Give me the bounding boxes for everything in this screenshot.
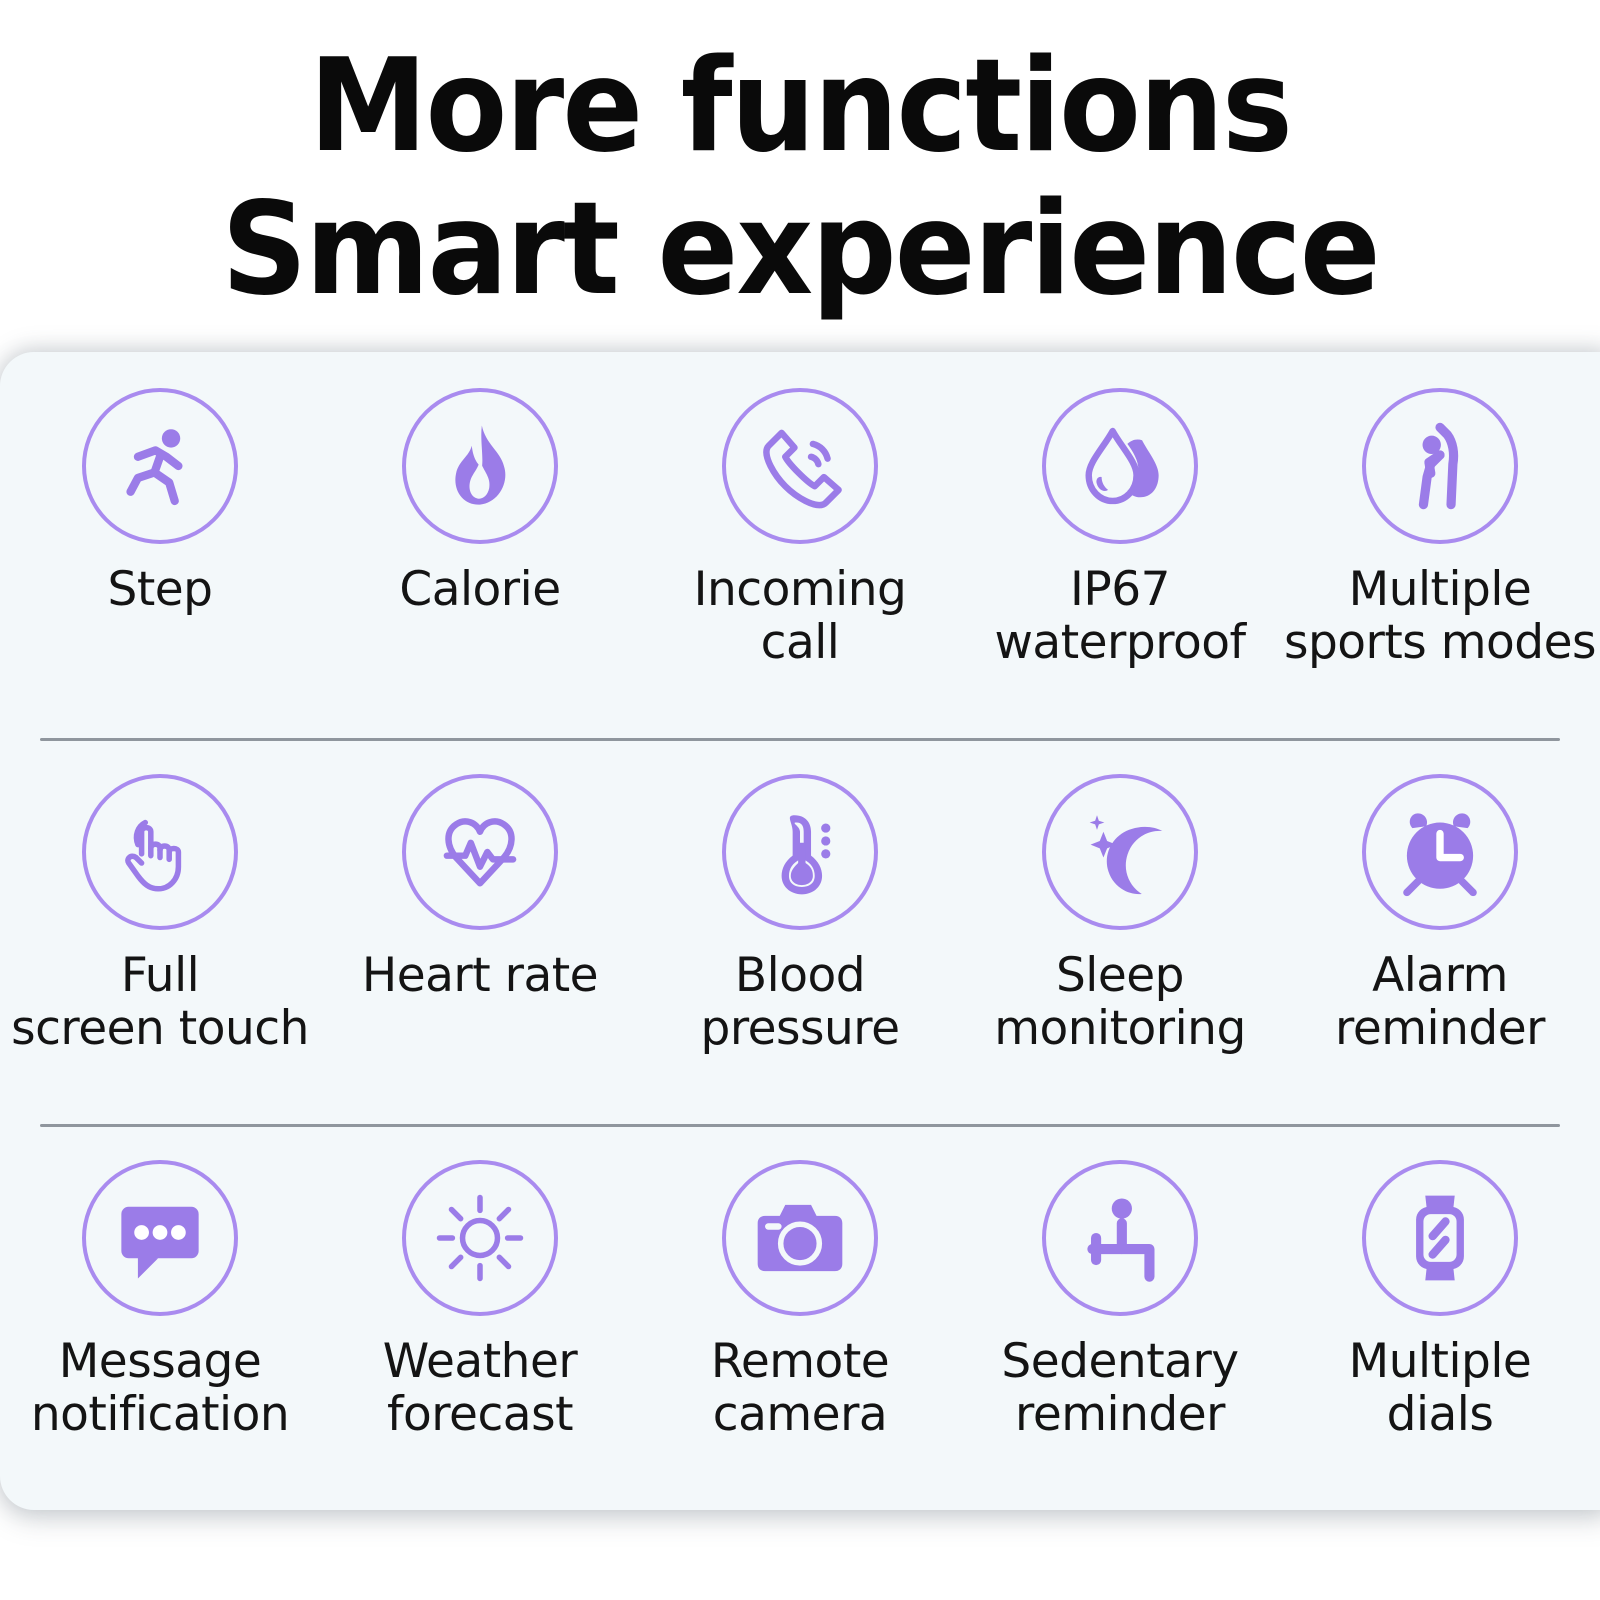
- feature-cell-calorie[interactable]: Calorie: [320, 388, 640, 617]
- feature-label: Sedentary reminder: [1001, 1336, 1238, 1441]
- feature-label: Weather forecast: [383, 1336, 577, 1441]
- feature-label: Blood pressure: [700, 950, 899, 1055]
- heart-pulse-icon: [402, 774, 558, 930]
- page-title-line-2: Smart experience: [221, 178, 1378, 321]
- seated-person-icon: [1042, 1160, 1198, 1316]
- touch-hand-icon: [82, 774, 238, 930]
- feature-cell-step[interactable]: Step: [0, 388, 320, 617]
- feature-cell-sedentary-reminder[interactable]: Sedentary reminder: [960, 1160, 1280, 1441]
- feature-cell-remote-camera[interactable]: Remote camera: [640, 1160, 960, 1441]
- feature-row: Full screen touch Heart rate: [0, 738, 1600, 1124]
- feature-label: Full screen touch: [11, 950, 309, 1055]
- feature-grid: Step Calorie: [0, 352, 1600, 1510]
- running-person-icon: [82, 388, 238, 544]
- feature-cell-multiple-dials[interactable]: Multiple dials: [1280, 1160, 1600, 1441]
- feature-cell-message-notification[interactable]: Message notification: [0, 1160, 320, 1441]
- feature-card-wrapper: Step Calorie: [0, 352, 1600, 1512]
- feature-cell-full-screen-touch[interactable]: Full screen touch: [0, 774, 320, 1055]
- camera-icon: [722, 1160, 878, 1316]
- feature-label: Calorie: [399, 564, 560, 617]
- feature-label: Step: [107, 564, 212, 617]
- water-drop-icon: [1042, 388, 1198, 544]
- feature-label: Multiple sports modes: [1284, 564, 1596, 669]
- stretching-person-icon: [1362, 388, 1518, 544]
- alarm-clock-icon: [1362, 774, 1518, 930]
- sun-icon: [402, 1160, 558, 1316]
- feature-row: Message notification: [0, 1124, 1600, 1510]
- feature-label: Multiple dials: [1349, 1336, 1532, 1441]
- flame-icon: [402, 388, 558, 544]
- feature-cell-heart-rate[interactable]: Heart rate: [320, 774, 640, 1003]
- phone-call-icon: [722, 388, 878, 544]
- moon-stars-icon: [1042, 774, 1198, 930]
- feature-label: Heart rate: [362, 950, 598, 1003]
- speech-bubble-icon: [82, 1160, 238, 1316]
- feature-cell-sports-modes[interactable]: Multiple sports modes: [1280, 388, 1600, 669]
- feature-label: Remote camera: [711, 1336, 889, 1441]
- feature-cell-weather-forecast[interactable]: Weather forecast: [320, 1160, 640, 1441]
- feature-label: IP67 waterproof: [994, 564, 1245, 669]
- feature-label: Alarm reminder: [1335, 950, 1545, 1055]
- feature-label: Sleep monitoring: [994, 950, 1246, 1055]
- feature-cell-blood-pressure[interactable]: Blood pressure: [640, 774, 960, 1055]
- thermometer-icon: [722, 774, 878, 930]
- feature-cell-incoming-call[interactable]: Incoming call: [640, 388, 960, 669]
- feature-row: Step Calorie: [0, 352, 1600, 738]
- smartwatch-icon: [1362, 1160, 1518, 1316]
- feature-cell-waterproof[interactable]: IP67 waterproof: [960, 388, 1280, 669]
- page-title-line-1: More functions: [309, 35, 1291, 178]
- feature-label: Message notification: [31, 1336, 289, 1441]
- feature-cell-sleep-monitoring[interactable]: Sleep monitoring: [960, 774, 1280, 1055]
- page-header: More functions Smart experience: [0, 0, 1600, 350]
- feature-label: Incoming call: [694, 564, 907, 669]
- feature-cell-alarm-reminder[interactable]: Alarm reminder: [1280, 774, 1600, 1055]
